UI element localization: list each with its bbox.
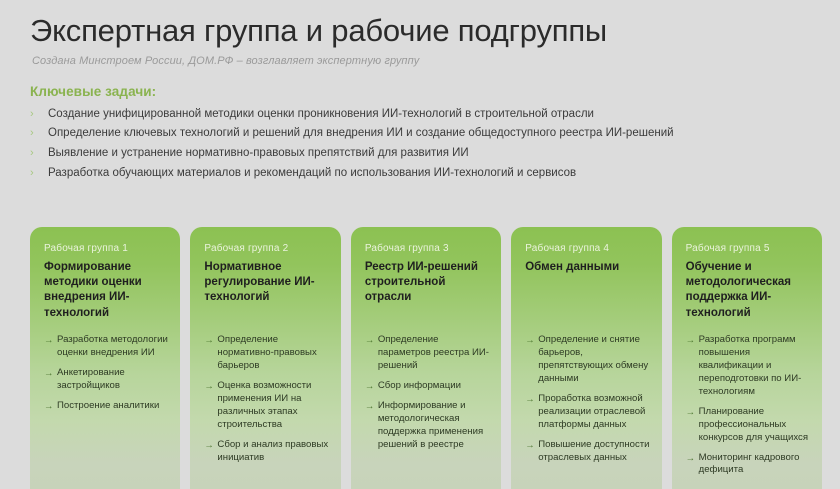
key-task-item: ›Определение ключевых технологий и решен… [30, 127, 810, 141]
chevron-right-icon: › [30, 147, 48, 161]
working-group-bullet-text: Определение параметров реестра ИИ-решени… [378, 334, 489, 373]
arrow-right-icon: → [44, 367, 57, 380]
key-task-text: Разработка обучающих материалов и рекоме… [48, 167, 576, 180]
working-group-bullet-list: →Определение параметров реестра ИИ-решен… [365, 334, 489, 452]
working-group-bullet-text: Повышение доступности отраслевых данных [538, 439, 649, 465]
working-group-bullet-text: Построение аналитики [57, 400, 168, 413]
working-group-title: Формирование методики оценки внедрения И… [44, 260, 168, 322]
arrow-right-icon: → [686, 334, 699, 347]
working-group-bullet: →Мониторинг кадрового дефицита [686, 452, 810, 478]
working-group-bullet: →Определение и снятие барьеров, препятст… [525, 334, 649, 386]
working-group-bullet: →Разработка программ повышения квалифика… [686, 334, 810, 399]
working-group-bullet-text: Сбор информации [378, 380, 489, 393]
working-group-title: Обмен данными [525, 260, 649, 322]
working-group-bullet-text: Сбор и анализ правовых инициатив [217, 439, 328, 465]
arrow-right-icon: → [365, 400, 378, 413]
working-group-bullet: →Проработка возможной реализации отрасле… [525, 393, 649, 432]
page-title: Экспертная группа и рабочие подгруппы [30, 14, 810, 49]
working-group-title: Нормативное регулирование ИИ-технологий [204, 260, 328, 322]
working-group-label: Рабочая группа 2 [204, 243, 328, 254]
arrow-right-icon: → [525, 439, 538, 452]
working-group-bullet: →Сбор информации [365, 380, 489, 393]
working-group-title: Обучение и методологическая поддержка ИИ… [686, 260, 810, 322]
working-group-bullet-text: Определение нормативно-правовых барьеров [217, 334, 328, 373]
arrow-right-icon: → [204, 380, 217, 393]
working-group-card: Рабочая группа 3Реестр ИИ-решений строит… [351, 227, 501, 489]
working-group-bullet: →Сбор и анализ правовых инициатив [204, 439, 328, 465]
working-group-bullet: →Повышение доступности отраслевых данных [525, 439, 649, 465]
working-group-bullet-text: Проработка возможной реализации отраслев… [538, 393, 649, 432]
key-task-text: Выявление и устранение нормативно-правов… [48, 147, 469, 160]
working-group-bullet-text: Определение и снятие барьеров, препятств… [538, 334, 649, 386]
key-task-item: ›Создание унифицированной методики оценк… [30, 108, 810, 122]
working-group-label: Рабочая группа 1 [44, 243, 168, 254]
working-group-bullet-list: →Разработка методологии оценки внедрения… [44, 334, 168, 413]
working-group-bullet: →Построение аналитики [44, 400, 168, 413]
arrow-right-icon: → [686, 452, 699, 465]
arrow-right-icon: → [365, 380, 378, 393]
working-group-bullet-text: Разработка программ повышения квалификац… [699, 334, 810, 399]
page-subtitle: Создана Минстроем России, ДОМ.РФ – возгл… [32, 55, 810, 67]
arrow-right-icon: → [365, 334, 378, 347]
working-group-bullet-text: Оценка возможности применения ИИ на разл… [217, 380, 328, 432]
working-group-title: Реестр ИИ-решений строительной отрасли [365, 260, 489, 322]
key-tasks-heading: Ключевые задачи: [30, 84, 810, 99]
working-group-label: Рабочая группа 3 [365, 243, 489, 254]
working-group-bullet: →Определение нормативно-правовых барьеро… [204, 334, 328, 373]
key-tasks-list: ›Создание унифицированной методики оценк… [30, 108, 810, 181]
working-groups-row: Рабочая группа 1Формирование методики оц… [30, 227, 822, 489]
working-group-bullet: →Планирование профессиональных конкурсов… [686, 406, 810, 445]
working-group-bullet-list: →Определение и снятие барьеров, препятст… [525, 334, 649, 464]
chevron-right-icon: › [30, 108, 48, 122]
working-group-card: Рабочая группа 4Обмен данными→Определени… [511, 227, 661, 489]
slide-header: Экспертная группа и рабочие подгруппы Со… [0, 0, 840, 67]
working-group-label: Рабочая группа 5 [686, 243, 810, 254]
working-group-card: Рабочая группа 2Нормативное регулировани… [190, 227, 340, 489]
working-group-bullet-list: →Определение нормативно-правовых барьеро… [204, 334, 328, 464]
key-task-text: Определение ключевых технологий и решени… [48, 127, 674, 140]
working-group-bullet-text: Мониторинг кадрового дефицита [699, 452, 810, 478]
chevron-right-icon: › [30, 127, 48, 141]
working-group-label: Рабочая группа 4 [525, 243, 649, 254]
working-group-bullet: →Анкетирование застройщиков [44, 367, 168, 393]
working-group-bullet: →Оценка возможности применения ИИ на раз… [204, 380, 328, 432]
arrow-right-icon: → [44, 400, 57, 413]
arrow-right-icon: → [204, 334, 217, 347]
working-group-card: Рабочая группа 5Обучение и методологичес… [672, 227, 822, 489]
working-group-card: Рабочая группа 1Формирование методики оц… [30, 227, 180, 489]
key-task-item: ›Выявление и устранение нормативно-право… [30, 147, 810, 161]
key-task-item: ›Разработка обучающих материалов и реком… [30, 167, 810, 181]
working-group-bullet-text: Разработка методологии оценки внедрения … [57, 334, 168, 360]
arrow-right-icon: → [204, 439, 217, 452]
arrow-right-icon: → [44, 334, 57, 347]
key-tasks-section: Ключевые задачи: ›Создание унифицированн… [0, 67, 840, 181]
arrow-right-icon: → [525, 334, 538, 347]
working-group-bullet-text: Анкетирование застройщиков [57, 367, 168, 393]
arrow-right-icon: → [686, 406, 699, 419]
working-group-bullet: →Информирование и методологическая подде… [365, 400, 489, 452]
working-group-bullet: →Разработка методологии оценки внедрения… [44, 334, 168, 360]
arrow-right-icon: → [525, 393, 538, 406]
working-group-bullet-text: Информирование и методологическая поддер… [378, 400, 489, 452]
working-group-bullet: →Определение параметров реестра ИИ-решен… [365, 334, 489, 373]
working-group-bullet-text: Планирование профессиональных конкурсов … [699, 406, 810, 445]
chevron-right-icon: › [30, 167, 48, 181]
key-task-text: Создание унифицированной методики оценки… [48, 108, 594, 121]
working-group-bullet-list: →Разработка программ повышения квалифика… [686, 334, 810, 477]
